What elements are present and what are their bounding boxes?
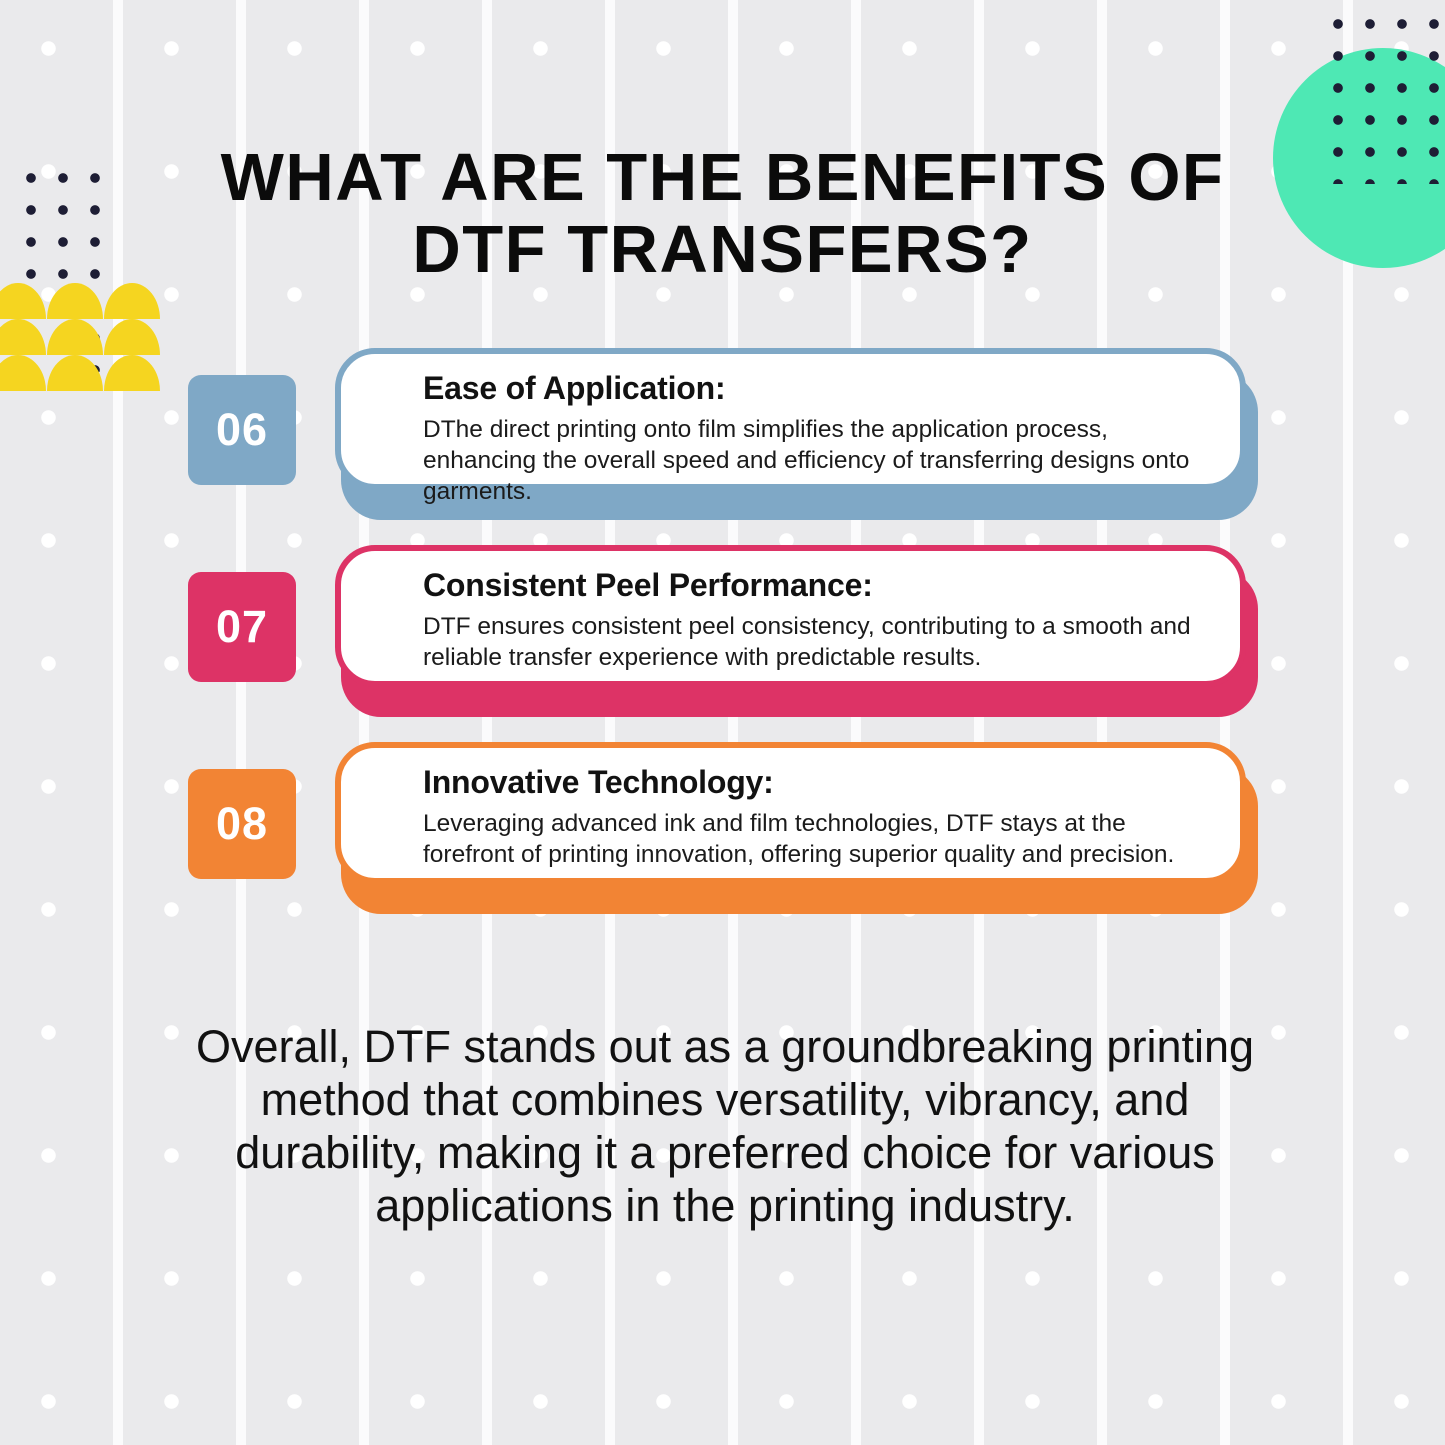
benefit-card-row: 06 Ease of Application: DThe direct prin…: [188, 348, 1258, 520]
benefit-card-row: 08 Innovative Technology: Leveraging adv…: [188, 742, 1258, 914]
benefit-heading: Innovative Technology:: [423, 764, 1212, 801]
benefit-description: Leveraging advanced ink and film technol…: [423, 809, 1212, 871]
scallop-row: [0, 319, 150, 355]
benefit-heading: Ease of Application:: [423, 370, 1212, 407]
infographic-poster: WHAT ARE THE BENEFITS OF DTF TRANSFERS? …: [0, 0, 1445, 1445]
dot-grid-top-right: [1322, 8, 1442, 184]
page-title: WHAT ARE THE BENEFITS OF DTF TRANSFERS?: [170, 142, 1275, 287]
benefit-number-badge: 08: [188, 769, 296, 879]
card-surface: Consistent Peel Performance: DTF ensures…: [335, 545, 1246, 687]
benefit-number-badge: 06: [188, 375, 296, 485]
benefit-description: DTF ensures consistent peel consistency,…: [423, 612, 1212, 674]
yellow-scallop-decoration: [0, 283, 150, 391]
scallop-row: [0, 355, 150, 391]
summary-paragraph: Overall, DTF stands out as a groundbreak…: [175, 1020, 1275, 1232]
card-surface: Innovative Technology: Leveraging advanc…: [335, 742, 1246, 884]
card-surface: Ease of Application: DThe direct printin…: [335, 348, 1246, 490]
benefit-heading: Consistent Peel Performance:: [423, 567, 1212, 604]
benefit-card[interactable]: Ease of Application: DThe direct printin…: [335, 348, 1258, 520]
scallop-row: [0, 283, 150, 319]
benefit-number-badge: 07: [188, 572, 296, 682]
benefit-card[interactable]: Innovative Technology: Leveraging advanc…: [335, 742, 1258, 914]
benefit-description: DThe direct printing onto film simplifie…: [423, 415, 1212, 508]
benefit-card[interactable]: Consistent Peel Performance: DTF ensures…: [335, 545, 1258, 717]
benefit-card-row: 07 Consistent Peel Performance: DTF ensu…: [188, 545, 1258, 717]
